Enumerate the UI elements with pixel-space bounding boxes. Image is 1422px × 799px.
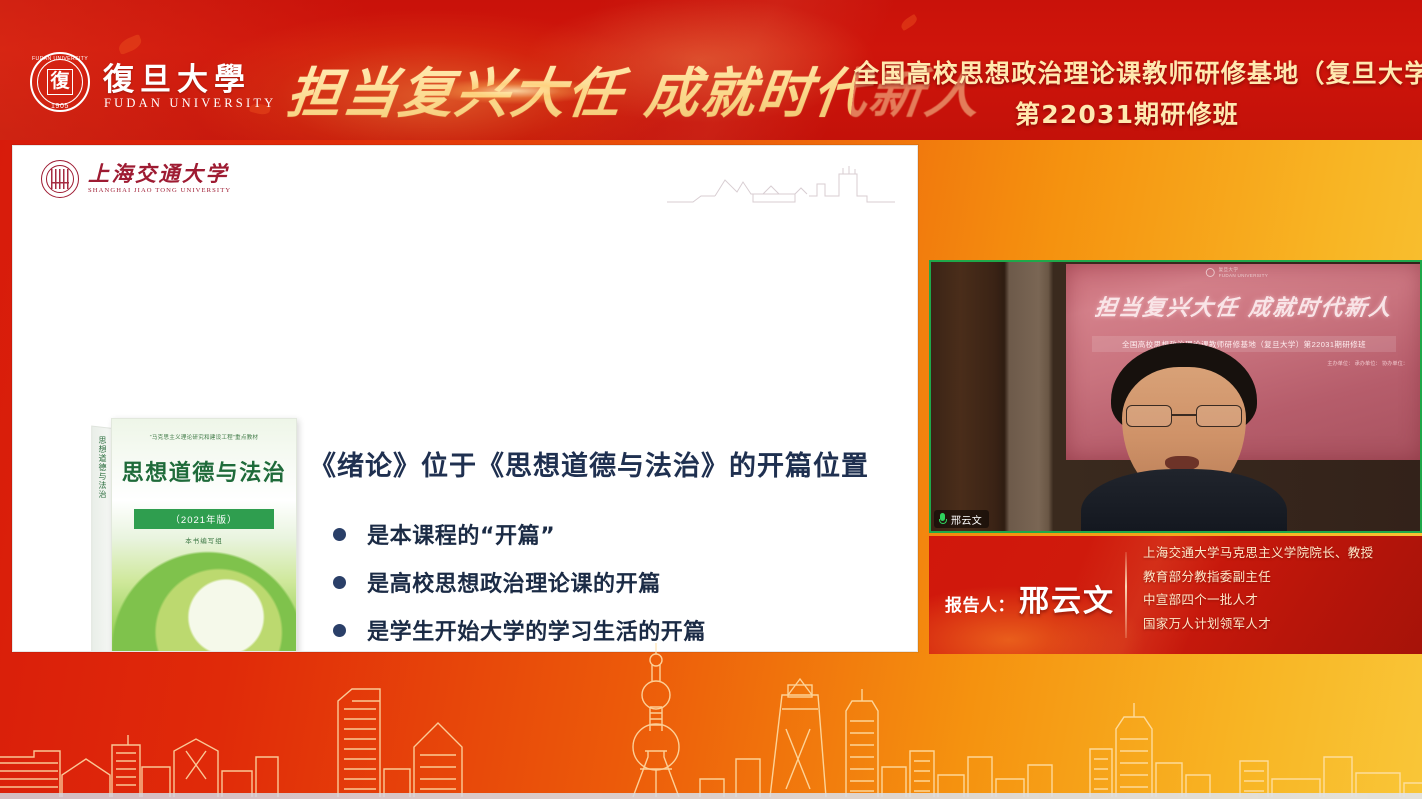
speaker-role-label: 报告人： xyxy=(945,591,1015,616)
shanghai-skyline-decor-icon xyxy=(0,639,1422,799)
speaker-video-tile[interactable]: 复旦大学 FUDAN UNIVERSITY 担当复兴大任 成就时代新人 全国高校… xyxy=(929,260,1422,533)
speaker-identity: 报告人： 邢云文 xyxy=(945,576,1115,620)
bullet-dot-icon xyxy=(333,624,346,637)
petal-decor xyxy=(899,14,919,31)
book-spine-title: 思想道德与法治 xyxy=(96,436,108,499)
projector-slogan: 担当复兴大任 成就时代新人 xyxy=(1064,290,1422,322)
projector-logo-line-2: FUDAN UNIVERSITY xyxy=(1219,273,1268,278)
bullet-text: 是高校思想政治理论课的开篇 xyxy=(367,566,661,598)
credential-line: 国家万人计划领军人才 xyxy=(1143,618,1416,631)
book-subtitle: 本书编写组 xyxy=(112,535,296,545)
university-name-en: FUDAN UNIVERSITY xyxy=(104,96,276,111)
slide-title: 《绪论》位于《思想道德与法治》的开篇位置 xyxy=(309,444,869,483)
credential-line: 上海交通大学马克思主义学院院长、教授 xyxy=(1143,547,1416,560)
list-item: 是本课程的“开篇” xyxy=(333,510,706,558)
projector-side-text: 主办单位： 承办单位： 协办单位： xyxy=(1327,360,1408,370)
fudan-emblem-icon: FUDAN UNIVERSITY 復 1905 xyxy=(30,52,90,112)
sjtu-name-cn: 上海交通大学 xyxy=(88,163,231,184)
bullet-text: 是学生开始大学的学习生活的开篇 xyxy=(367,614,706,646)
credential-line: 中宣部四个一批人才 xyxy=(1143,594,1416,607)
sjtu-seal-icon xyxy=(41,160,79,198)
event-title-block: 全国高校思想政治理论课教师研修基地（复旦大学） 第22031期研修班 xyxy=(854,54,1400,131)
projector-logo-line-1: 复旦大学 xyxy=(1219,267,1239,272)
emblem-glyph: 復 xyxy=(30,68,90,94)
participant-name: 邢云文 xyxy=(951,512,982,527)
bullet-text: 是本课程的“开篇” xyxy=(367,518,555,550)
sjtu-name-en: SHANGHAI JIAO TONG UNIVERSITY xyxy=(88,188,231,195)
sjtu-logo: 上海交通大学 SHANGHAI JIAO TONG UNIVERSITY xyxy=(41,160,231,198)
book-title: 思想道德与法治 xyxy=(112,455,296,487)
footer-strip xyxy=(0,793,1422,799)
book-edition: （2021年版） xyxy=(134,509,274,529)
person-torso xyxy=(1081,469,1287,531)
book-series-line: “马克思主义理论研究和建设工程”重点教材 xyxy=(124,433,284,441)
shared-screen-slide[interactable]: 上海交通大学 SHANGHAI JIAO TONG UNIVERSITY 思想道… xyxy=(12,145,918,652)
speaker-name: 邢云文 xyxy=(1019,576,1115,620)
participant-name-label: 邢云文 xyxy=(934,510,989,528)
emblem-year: 1905 xyxy=(30,103,90,110)
event-slogan: 担当复兴大任 成就时代新人 xyxy=(283,44,860,132)
textbook-cover-image: 思想道德与法治 “马克思主义理论研究和建设工程”重点教材 思想道德与法治 （20… xyxy=(91,418,297,652)
projector-logo: 复旦大学 FUDAN UNIVERSITY xyxy=(1206,267,1268,278)
list-item: 是高校思想政治理论课的开篇 xyxy=(333,558,706,606)
presentation-stage: FUDAN UNIVERSITY 復 1905 復旦大學 FUDAN UNIVE… xyxy=(0,0,1422,799)
credential-line: 教育部分教指委副主任 xyxy=(1143,571,1416,584)
petal-decor xyxy=(116,34,143,55)
speaker-divider xyxy=(1125,552,1127,638)
slogan-part-1: 担当复兴大任 xyxy=(283,49,629,128)
slide-bullet-list: 是本课程的“开篇” 是高校思想政治理论课的开篇 是学生开始大学的学习生活的开篇 xyxy=(333,510,706,652)
campus-skyline-decor-icon xyxy=(667,156,895,208)
list-item: 是学生开始大学的学习生活的开篇 xyxy=(333,606,706,652)
person-glasses xyxy=(1126,405,1242,427)
event-header-banner: FUDAN UNIVERSITY 復 1905 復旦大學 FUDAN UNIVE… xyxy=(0,0,1422,140)
speaker-credentials: 上海交通大学马克思主义学院院长、教授 教育部分教指委副主任 中宣部四个一批人才 … xyxy=(1143,547,1416,641)
microphone-icon xyxy=(938,513,947,526)
bullet-dot-icon xyxy=(333,528,346,541)
speaker-person xyxy=(1081,343,1287,531)
bullet-dot-icon xyxy=(333,576,346,589)
university-name-cn: 復旦大學 xyxy=(103,54,251,99)
event-title-line-2: 第22031期研修班 xyxy=(854,95,1400,131)
event-title-line-1: 全国高校思想政治理论课教师研修基地（复旦大学） xyxy=(854,54,1400,90)
speaker-info-bar: 报告人： 邢云文 上海交通大学马克思主义学院院长、教授 教育部分教指委副主任 中… xyxy=(929,536,1422,654)
emblem-arc-text: FUDAN UNIVERSITY xyxy=(30,56,90,62)
book-front-cover: “马克思主义理论研究和建设工程”重点教材 思想道德与法治 （2021年版） 本书… xyxy=(111,418,297,652)
